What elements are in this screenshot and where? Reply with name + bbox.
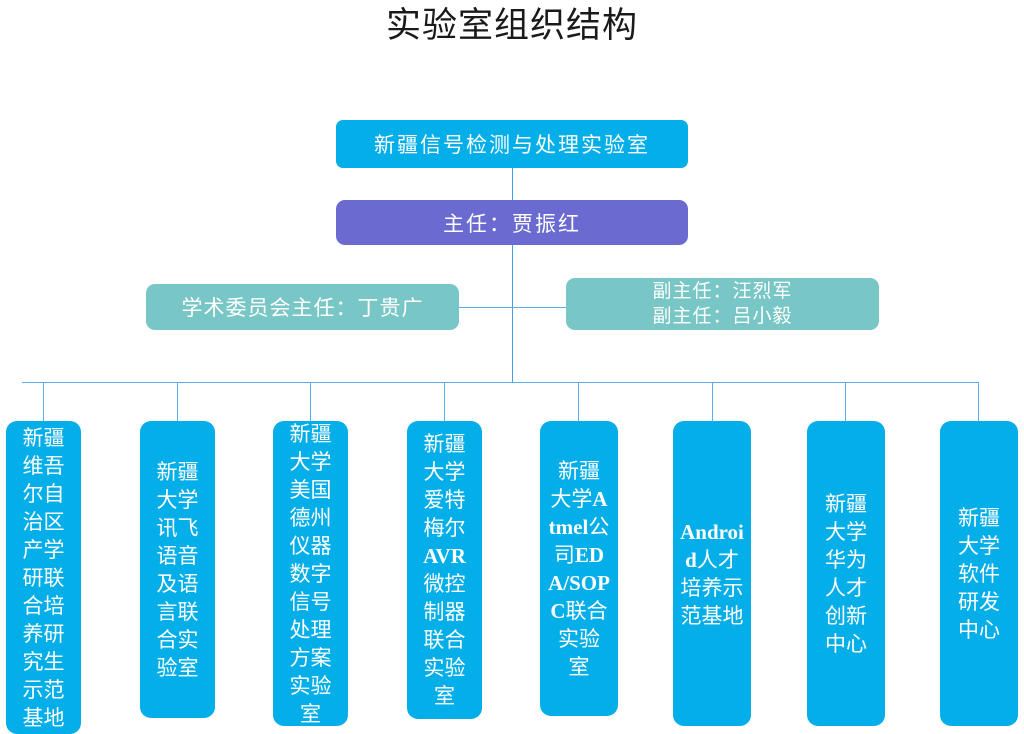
unit-box-4[interactable]: 新疆大学Atmel公司EDA/SOPC联合实验室	[540, 421, 618, 716]
connector-distribution-bar	[22, 382, 979, 383]
unit-label-5: Android人才培养示范基地	[677, 518, 747, 630]
unit-box-2[interactable]: 新疆大学美国德州仪器数字信号处理方案实验室	[273, 421, 348, 726]
node-laboratory[interactable]: 新疆信号检测与处理实验室	[336, 120, 688, 168]
org-chart-canvas: 实验室组织结构 新疆信号检测与处理实验室 主任：贾振红 学术委员会主任：丁贵广 …	[0, 0, 1024, 734]
node-director-label: 主任：贾振红	[443, 208, 581, 238]
node-academic-committee-chair[interactable]: 学术委员会主任：丁贵广	[146, 284, 459, 330]
node-academic-committee-label: 学术委员会主任：丁贵广	[182, 292, 424, 322]
node-deputy-director-2-label: 副主任：吕小毅	[652, 304, 792, 329]
unit-box-7[interactable]: 新疆大学软件研发中心	[940, 421, 1018, 726]
connector-drop-7	[978, 382, 979, 421]
node-laboratory-label: 新疆信号检测与处理实验室	[374, 129, 650, 159]
connector-drop-0	[43, 382, 44, 421]
connector-drop-5	[712, 382, 713, 421]
unit-label-3: 新疆大学爱特梅尔AVR微控制器联合实验室	[421, 430, 469, 710]
connector-lab-to-director	[512, 168, 513, 200]
connector-drop-1	[177, 382, 178, 421]
node-director[interactable]: 主任：贾振红	[336, 200, 688, 245]
unit-label-4: 新疆大学Atmel公司EDA/SOPC联合实验室	[548, 457, 610, 681]
unit-label-0: 新疆维吾尔自治区产学研联合培养研究生示范基地	[20, 424, 68, 732]
unit-box-1[interactable]: 新疆大学讯飞语音及语言联合实验室	[140, 421, 215, 718]
connector-drop-6	[845, 382, 846, 421]
connector-trunk-to-deputies	[512, 307, 567, 308]
connector-academic-to-trunk	[459, 307, 513, 308]
connector-director-trunk	[512, 245, 513, 382]
connector-drop-2	[310, 382, 311, 421]
unit-box-5[interactable]: Android人才培养示范基地	[673, 421, 751, 726]
page-title: 实验室组织结构	[0, 2, 1024, 50]
node-deputy-directors[interactable]: 副主任：汪烈军 副主任：吕小毅	[566, 278, 879, 330]
unit-label-2: 新疆大学美国德州仪器数字信号处理方案实验室	[287, 420, 335, 728]
connector-drop-3	[444, 382, 445, 421]
unit-label-7: 新疆大学软件研发中心	[955, 504, 1003, 644]
unit-label-1: 新疆大学讯飞语音及语言联合实验室	[154, 458, 202, 682]
unit-box-6[interactable]: 新疆大学华为人才创新中心	[807, 421, 885, 726]
connector-drop-4	[578, 382, 579, 421]
unit-box-3[interactable]: 新疆大学爱特梅尔AVR微控制器联合实验室	[407, 421, 482, 719]
unit-box-0[interactable]: 新疆维吾尔自治区产学研联合培养研究生示范基地	[6, 421, 81, 734]
unit-label-6: 新疆大学华为人才创新中心	[822, 490, 870, 658]
node-deputy-director-1-label: 副主任：汪烈军	[652, 279, 792, 304]
